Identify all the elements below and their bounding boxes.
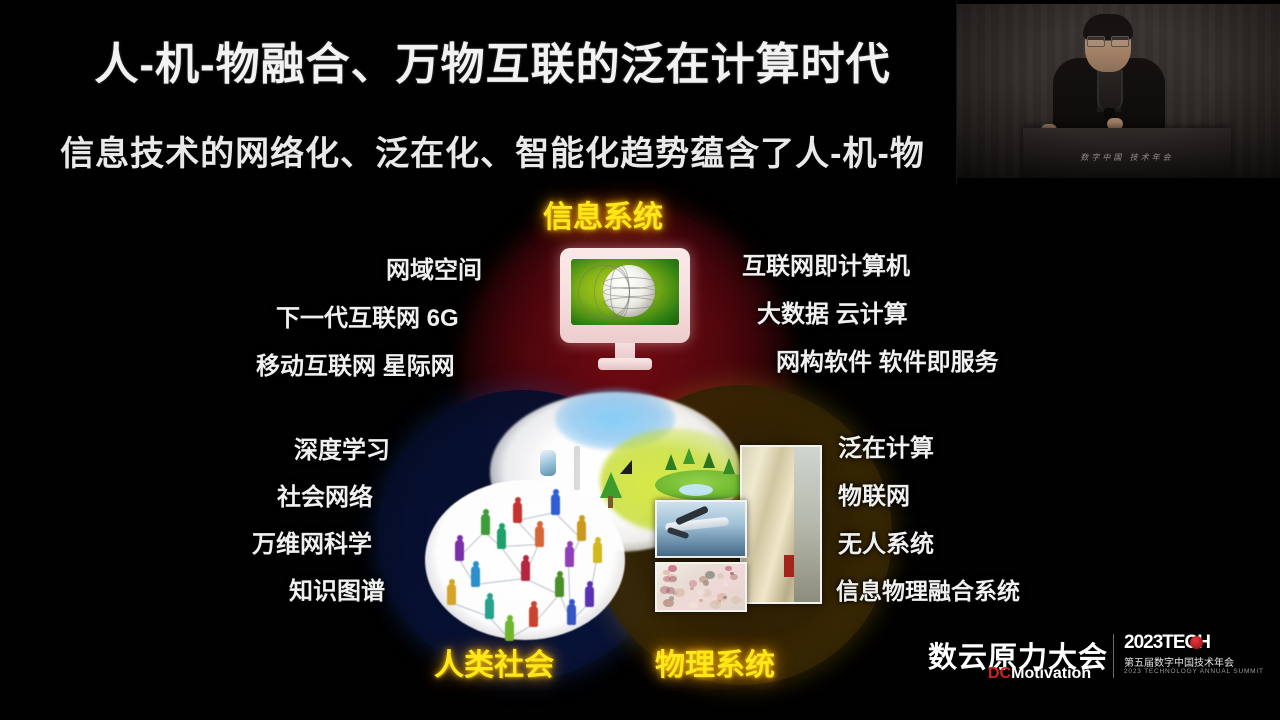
logo-motivation-text: Motivation [1011, 665, 1091, 682]
person-figure [513, 502, 522, 523]
label-web-science: 万维网科学 [252, 524, 372, 559]
caption-information-system: 信息系统 [543, 192, 663, 236]
people-network-graphic [425, 480, 625, 640]
label-internetware-saas: 网构软件 软件即服务 [776, 342, 999, 377]
video-letterbox-top [957, 0, 1280, 4]
logo-divider [1113, 634, 1114, 678]
person-figure [481, 514, 490, 535]
conference-logo: 数云原力大会 DCMotivation 2023TECH 第五届数字中国技术年会… [928, 632, 1168, 686]
speckle [668, 565, 677, 572]
speckle [669, 576, 677, 583]
network-link [501, 544, 539, 547]
label-mobile-interplanetary-net: 移动互联网 星际网 [256, 346, 455, 381]
person-figure [585, 586, 594, 607]
person-figure [565, 546, 574, 567]
person-figure [529, 606, 538, 627]
tree-trunk [608, 496, 613, 508]
presentation-slide: 人-机-物融合、万物互联的泛在计算时代 信息技术的网络化、泛在化、智能化趋势蕴含… [0, 0, 1280, 720]
computer-monitor-icon [560, 248, 690, 376]
venn-diagram: 信息系统 人类社会 物理系统 网域空间 下一代互联网 6G 移动互联网 星际网 … [0, 180, 1280, 680]
label-cyberspace: 网域空间 [386, 250, 482, 285]
person-figure [471, 566, 480, 587]
landscape-island-icon [655, 448, 751, 502]
person-figure [535, 526, 544, 547]
speckle [723, 596, 727, 599]
speckle [723, 582, 729, 587]
person-figure [555, 576, 564, 597]
slide-title: 人-机-物融合、万物互联的泛在计算时代 [0, 28, 985, 92]
label-cyber-physical-systems: 信息物理融合系统 [836, 572, 1020, 606]
tree-icon [600, 472, 622, 498]
photo-tile-skyscraper [740, 445, 822, 604]
speaker-video-overlay[interactable]: 数字中国 技术年会 [956, 0, 1280, 185]
person-figure [577, 520, 586, 541]
person-figure [455, 540, 464, 561]
label-knowledge-graph: 知识图谱 [289, 571, 385, 606]
roof-icon [620, 460, 632, 474]
label-next-gen-internet-6g: 下一代互联网 6G [276, 298, 459, 333]
person-figure [551, 494, 560, 515]
person-figure [497, 528, 506, 549]
person-figure [521, 560, 530, 581]
logo-accent-dot [1190, 636, 1203, 649]
photo-tile-microscopy [655, 562, 747, 612]
speckle [710, 600, 721, 609]
speckle [674, 588, 685, 597]
speckle [725, 566, 731, 571]
person-figure [505, 620, 514, 641]
speckle [699, 599, 703, 602]
mobile-phone-icon [540, 450, 556, 476]
speckle [731, 596, 741, 604]
label-internet-as-computer: 互联网即计算机 [742, 246, 910, 281]
label-iot: 物联网 [838, 476, 910, 511]
person-figure [447, 584, 456, 605]
label-bigdata-cloud: 大数据 云计算 [757, 294, 908, 329]
logo-english-name: DCMotivation [988, 665, 1091, 683]
logo-subtitle-cn: 第五届数字中国技术年会 [1124, 654, 1234, 669]
antenna-icon [574, 446, 580, 490]
person-figure [485, 598, 494, 619]
label-deep-learning: 深度学习 [294, 430, 390, 465]
label-unmanned-systems: 无人系统 [838, 524, 934, 559]
speckle [663, 599, 674, 608]
video-letterbox-bottom [957, 178, 1280, 185]
caption-physical-system: 物理系统 [655, 640, 775, 684]
caption-human-society: 人类社会 [434, 640, 554, 684]
logo-dc-text: DC [988, 665, 1011, 682]
label-social-network: 社会网络 [277, 477, 373, 512]
speckle [689, 580, 697, 587]
network-link [517, 512, 555, 521]
video-vignette [957, 0, 1280, 185]
speckle [717, 573, 725, 579]
person-figure [567, 604, 576, 625]
speckle [689, 602, 698, 609]
label-ubiquitous-computing: 泛在计算 [838, 428, 934, 463]
photo-tile-airplane [655, 500, 747, 558]
logo-subtitle-en: 2023 TECHNOLOGY ANNUAL SUMMIT [1124, 668, 1264, 675]
person-figure [593, 542, 602, 563]
slide-subtitle: 信息技术的网络化、泛在化、智能化趋势蕴含了人-机-物 [0, 126, 985, 175]
network-link [451, 602, 489, 617]
speckle [690, 587, 694, 590]
network-link [475, 578, 525, 585]
network-link [525, 578, 559, 595]
speckle [660, 586, 670, 594]
globe-icon [603, 265, 655, 317]
